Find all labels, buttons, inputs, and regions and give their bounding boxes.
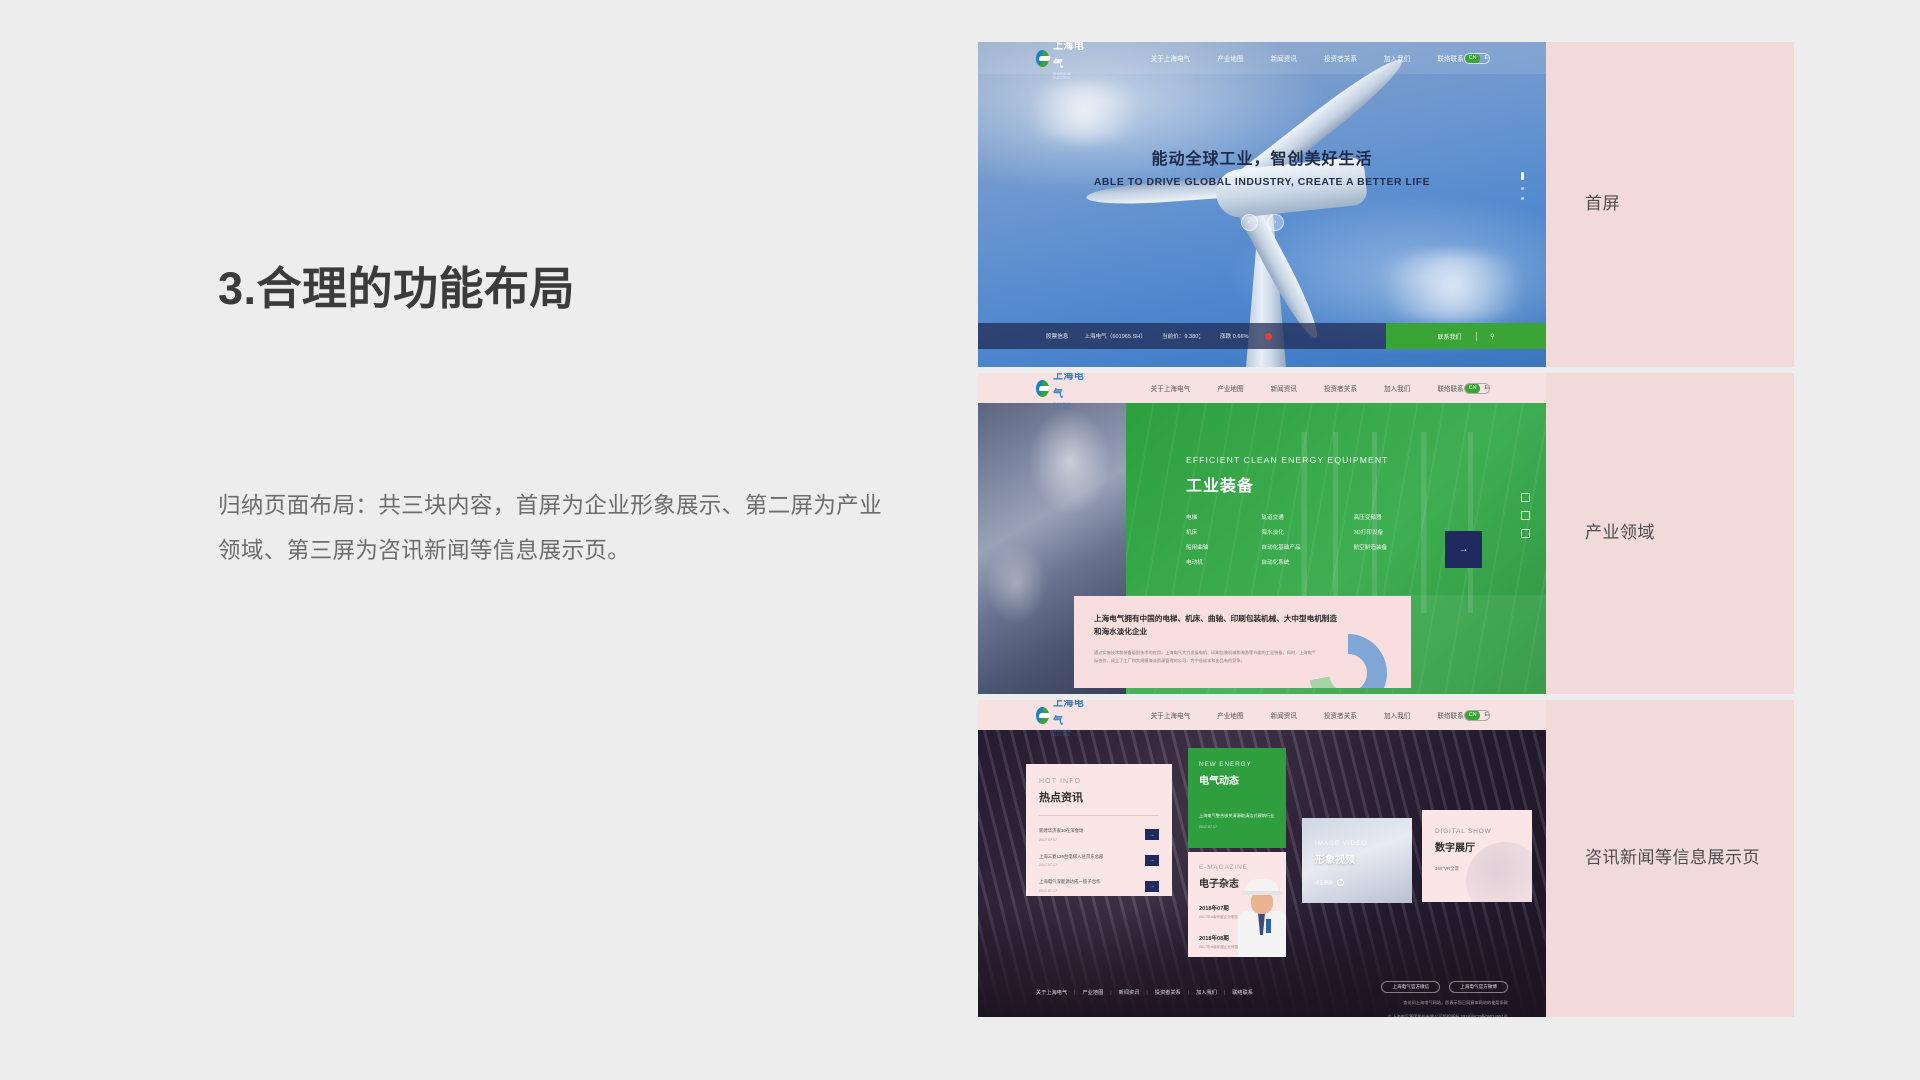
carousel-dots[interactable] xyxy=(1521,172,1524,200)
hero-headline-en: ABLE TO DRIVE GLOBAL INDUSTRY, CREATE A … xyxy=(978,177,1546,188)
carousel-next-button[interactable]: › xyxy=(1267,214,1284,231)
divider xyxy=(1039,815,1159,816)
language-toggle[interactable]: CN EN xyxy=(1464,53,1490,64)
mockup-row-news: HOT INFO 热点资讯 新建华济家10在深会场 2017.07.17 → 上… xyxy=(978,700,1794,1017)
image-video-card[interactable]: IMAGE VIDEO 形象视频 点击播放 xyxy=(1302,818,1412,903)
nav-item-investor[interactable]: 投资者关系 xyxy=(1324,383,1357,393)
new-energy-label-en: NEW ENERGY xyxy=(1199,761,1275,768)
divider: | xyxy=(1074,990,1075,996)
weibo-button[interactable]: 上海电气官方微博 xyxy=(1449,981,1508,993)
lang-cn-option[interactable]: CN xyxy=(1465,383,1481,394)
logo-subtext: SHANGHAI ELECTRIC xyxy=(1053,72,1085,80)
arrow-right-icon[interactable]: → xyxy=(1145,881,1159,892)
nav-item-news[interactable]: 新闻资讯 xyxy=(1271,53,1297,63)
footer-link-news[interactable]: 新闻资讯 xyxy=(1119,989,1140,996)
industry-link[interactable]: 航空制造装备 xyxy=(1354,543,1388,551)
stock-ticker-info: 股票信息 上海电气（601965.SH） 当前价：9.380； 涨跌 0.66% xyxy=(978,323,1386,349)
mockup-row-first-screen: 上海电气 SHANGHAI ELECTRIC 关于上海电气 产业地图 新闻资讯 … xyxy=(978,42,1794,367)
footer-nav[interactable]: 关于上海电气 | 产业地图 | 新闻资讯 | 投资者关系 | 加入我们 | 联络… xyxy=(1036,989,1253,996)
footer-link-contact[interactable]: 联络联系 xyxy=(1232,989,1253,996)
list-item[interactable]: 上海三菱126台电梯入驻京东总部 2017.07.17 → xyxy=(1039,854,1159,868)
divider: | xyxy=(1224,990,1225,996)
industry-link[interactable]: 3D打印设备 xyxy=(1354,528,1388,536)
image-video-label-en: IMAGE VIDEO xyxy=(1315,840,1412,847)
hot-item-title: 上海电气深能源达成一揽子合作 xyxy=(1039,879,1100,886)
stock-ticker-bar: 股票信息 上海电气（601965.SH） 当前价：9.380； 涨跌 0.66%… xyxy=(978,323,1546,349)
lang-en-option[interactable]: EN xyxy=(1480,385,1490,391)
industry-card-title: 上海电气拥有中国的电梯、机床、曲轴、印刷包装机械、大中型电机制造和海水淡化企业 xyxy=(1094,613,1344,638)
industry-link-columns[interactable]: 电梯 机床 船用曲轴 电动机 轨道交通 海水淡化 自动化基础产品 自动化系统 高… xyxy=(1186,513,1387,573)
new-energy-title: 上海电气整合核关清源取清洁式建筑行业 xyxy=(1199,813,1275,820)
industry-link[interactable]: 自动化基础产品 xyxy=(1261,543,1300,551)
nav-item-join-us[interactable]: 加入我们 xyxy=(1384,710,1410,720)
logo-mark-icon xyxy=(1036,380,1049,397)
label-first-screen-text: 首屏 xyxy=(1585,191,1620,217)
nav-item-investor[interactable]: 投资者关系 xyxy=(1324,710,1357,720)
hero-text-block: 能动全球工业，智创美好生活 ABLE TO DRIVE GLOBAL INDUS… xyxy=(978,145,1546,188)
nav-item-contact[interactable]: 联络联系 xyxy=(1437,53,1463,63)
industry-link[interactable]: 海水淡化 xyxy=(1261,528,1300,536)
stock-change: 涨跌 0.66% xyxy=(1220,332,1249,340)
digital-show-label-en: DIGITAL SHOW xyxy=(1435,828,1532,835)
side-control-icon[interactable] xyxy=(1521,529,1530,538)
carousel-dot-active[interactable] xyxy=(1521,172,1524,180)
industry-heading-en: EFFICIENT CLEAN ENERGY EQUIPMENT xyxy=(1186,455,1389,465)
search-icon[interactable]: ⚲ xyxy=(1490,333,1494,340)
divider xyxy=(1476,332,1477,341)
new-energy-card[interactable]: NEW ENERGY 电气动态 上海电气整合核关清源取清洁式建筑行业 2017.… xyxy=(1188,748,1286,848)
screenshot-first-screen[interactable]: 上海电气 SHANGHAI ELECTRIC 关于上海电气 产业地图 新闻资讯 … xyxy=(978,42,1546,367)
hot-item-date: 2017.07.17 xyxy=(1039,863,1103,867)
footer-link-investor[interactable]: 投资者关系 xyxy=(1155,989,1181,996)
site-logo[interactable]: 上海电气 SHANGHAI ELECTRIC xyxy=(1036,373,1085,410)
lang-en-option[interactable]: EN xyxy=(1480,55,1490,61)
pie-chart-graphic xyxy=(1309,634,1387,688)
emagazine-label-en: E-MAGAZINE xyxy=(1199,864,1275,871)
site-logo[interactable]: 上海电气 SHANGHAI ELECTRIC xyxy=(1036,700,1085,737)
stock-code: 上海电气（601965.SH） xyxy=(1084,332,1146,340)
industry-heading-cn: 工业装备 xyxy=(1186,472,1389,496)
stock-price: 当前价：9.380； xyxy=(1162,332,1204,340)
nav-item-about[interactable]: 关于上海电气 xyxy=(1151,710,1191,720)
nav-item-about[interactable]: 关于上海电气 xyxy=(1151,383,1191,393)
engineer-badge xyxy=(1266,919,1271,933)
hero-headline-cn: 能动全球工业，智创美好生活 xyxy=(978,145,1546,169)
contact-us-link[interactable]: 联系我们 xyxy=(1437,332,1461,341)
industry-link[interactable]: 船用曲轴 xyxy=(1186,543,1208,551)
nav-item-join-us[interactable]: 加入我们 xyxy=(1384,53,1410,63)
label-news: 咨讯新闻等信息展示页 xyxy=(1546,700,1794,1017)
label-first-screen: 首屏 xyxy=(1546,42,1794,367)
nav-item-join-us[interactable]: 加入我们 xyxy=(1384,383,1410,393)
footer-link-industry-map[interactable]: 产业地图 xyxy=(1083,989,1104,996)
label-industry: 产业领域 xyxy=(1546,373,1794,694)
hard-hat-icon xyxy=(1245,879,1279,895)
hot-info-card[interactable]: HOT INFO 热点资讯 新建华济家10在深会场 2017.07.17 → 上… xyxy=(1026,764,1172,896)
industry-column-1: 电梯 机床 船用曲轴 电动机 xyxy=(1186,513,1208,573)
nav-item-industry-map[interactable]: 产业地图 xyxy=(1217,53,1243,63)
list-item[interactable]: 上海电气深能源达成一揽子合作 2017.07.17 → xyxy=(1039,879,1159,893)
slide-description: 归纳页面布局：共三块内容，首屏为企业形象展示、第二屏为产业领域、第三屏为咨讯新闻… xyxy=(218,483,890,574)
cloud-shape xyxy=(1008,82,1158,142)
logo-text: 上海电气 xyxy=(1053,700,1084,727)
play-cta[interactable]: 点击播放 xyxy=(1315,879,1412,886)
cloud-shape xyxy=(1358,252,1546,322)
divider: | xyxy=(1110,990,1111,996)
site-header: 上海电气 SHANGHAI ELECTRIC 关于上海电气 产业地图 新闻资讯 … xyxy=(978,373,1546,403)
wechat-button[interactable]: 上海电气官方微信 xyxy=(1381,981,1440,993)
divider: | xyxy=(1146,990,1147,996)
nav-item-contact[interactable]: 联络联系 xyxy=(1437,383,1463,393)
footer-legal-terms: 查访问上海电气网站，即表示您已同意本网站的使用条款 xyxy=(1381,999,1508,1007)
site-header: 上海电气 SHANGHAI ELECTRIC 关于上海电气 产业地图 新闻资讯 … xyxy=(978,700,1546,730)
nav-item-contact[interactable]: 联络联系 xyxy=(1437,710,1463,720)
nav-item-news[interactable]: 新闻资讯 xyxy=(1271,383,1297,393)
nav-item-about[interactable]: 关于上海电气 xyxy=(1151,53,1191,63)
industry-link[interactable]: 电梯 xyxy=(1186,513,1208,521)
lang-cn-option[interactable]: CN xyxy=(1465,710,1481,721)
arrow-right-icon[interactable]: → xyxy=(1145,855,1159,866)
new-energy-label-cn: 电气动态 xyxy=(1199,772,1275,787)
engineer-photo xyxy=(1234,879,1286,957)
label-news-text: 咨讯新闻等信息展示页 xyxy=(1585,845,1760,871)
footer-legal-copyright: © 上海电气集团股份有限公司版权所有 2018沪ICP备05034551号 xyxy=(1381,1013,1508,1017)
hot-info-label-cn: 热点资讯 xyxy=(1039,789,1159,805)
image-video-label-cn: 形象视频 xyxy=(1315,851,1412,866)
footer-link-about[interactable]: 关于上海电气 xyxy=(1036,989,1067,996)
nav-item-investor[interactable]: 投资者关系 xyxy=(1324,53,1357,63)
logo-mark-icon xyxy=(1036,707,1049,724)
logo-mark-icon xyxy=(1036,50,1049,67)
language-toggle[interactable]: CN EN xyxy=(1464,710,1490,721)
carousel-dot[interactable] xyxy=(1521,197,1524,200)
nav-item-industry-map[interactable]: 产业地图 xyxy=(1217,710,1243,720)
logo-subtext: SHANGHAI ELECTRIC xyxy=(1053,729,1085,737)
mockup-row-industry: EFFICIENT CLEAN ENERGY EQUIPMENT 工业装备 电梯… xyxy=(978,373,1794,694)
carousel-dot[interactable] xyxy=(1521,187,1524,190)
language-toggle[interactable]: CN EN xyxy=(1464,383,1490,394)
industry-link[interactable]: 自动化系统 xyxy=(1261,558,1300,566)
site-footer: 关于上海电气 | 产业地图 | 新闻资讯 | 投资者关系 | 加入我们 | 联络… xyxy=(978,975,1546,1017)
lang-cn-option[interactable]: CN xyxy=(1465,53,1481,64)
industry-column-2: 轨道交通 海水淡化 自动化基础产品 自动化系统 xyxy=(1261,513,1300,573)
play-cta-text: 点击播放 xyxy=(1315,880,1333,886)
label-industry-text: 产业领域 xyxy=(1585,520,1655,546)
industry-side-controls[interactable] xyxy=(1521,493,1530,538)
footer-social-buttons[interactable]: 上海电气官方微信 上海电气官方微博 xyxy=(1381,981,1508,993)
carousel-arrows[interactable]: ‹ › xyxy=(978,214,1546,231)
side-control-icon[interactable] xyxy=(1521,493,1530,502)
nav-item-news[interactable]: 新闻资讯 xyxy=(1271,710,1297,720)
main-nav[interactable]: 关于上海电气 产业地图 新闻资讯 投资者关系 加入我们 联络联系 xyxy=(1151,710,1464,720)
logo-subtext: SHANGHAI ELECTRIC xyxy=(1053,402,1085,410)
divider: | xyxy=(1188,990,1189,996)
stock-status-dot-icon xyxy=(1265,333,1272,340)
mockup-stack: 上海电气 SHANGHAI ELECTRIC 关于上海电气 产业地图 新闻资讯 … xyxy=(978,42,1794,1017)
industry-link[interactable]: 高压变频器 xyxy=(1354,513,1388,521)
contact-search-group[interactable]: 联系我们 ⚲ xyxy=(1386,323,1546,349)
hot-item-date: 2017.07.17 xyxy=(1039,889,1100,893)
industry-heading: EFFICIENT CLEAN ENERGY EQUIPMENT 工业装备 xyxy=(1186,455,1389,496)
main-nav[interactable]: 关于上海电气 产业地图 新闻资讯 投资者关系 加入我们 联络联系 xyxy=(1151,383,1464,393)
stock-label: 股票信息 xyxy=(1046,332,1068,340)
industry-card-body: 通过实施技术和装备级别技术的应用，上海电气大力发展电机、印刷包装机械和海渔等节能… xyxy=(1094,649,1330,665)
nav-item-industry-map[interactable]: 产业地图 xyxy=(1217,383,1243,393)
logo-text: 上海电气 xyxy=(1053,42,1084,70)
logo-text: 上海电气 xyxy=(1053,373,1084,400)
side-control-icon[interactable] xyxy=(1521,511,1530,520)
screenshot-news-section[interactable]: HOT INFO 热点资讯 新建华济家10在深会场 2017.07.17 → 上… xyxy=(978,700,1546,1017)
screenshot-industry-section[interactable]: EFFICIENT CLEAN ENERGY EQUIPMENT 工业装备 电梯… xyxy=(978,373,1546,694)
industry-column-3: 高压变频器 3D打印设备 航空制造装备 xyxy=(1354,513,1388,573)
carousel-prev-button[interactable]: ‹ xyxy=(1241,214,1258,231)
hot-item-title: 新建华济家10在深会场 xyxy=(1039,828,1083,835)
slide-text-column: 3.合理的功能布局 归纳页面布局：共三块内容，首屏为企业形象展示、第二屏为产业领… xyxy=(218,262,898,574)
footer-right-block: 上海电气官方微信 上海电气官方微博 查访问上海电气网站，即表示您已同意本网站的使… xyxy=(1381,981,1508,1017)
play-icon[interactable] xyxy=(1337,879,1344,886)
hot-info-label-en: HOT INFO xyxy=(1039,778,1159,785)
arrow-right-icon: → xyxy=(1459,544,1469,555)
list-item[interactable]: 新建华济家10在深会场 2017.07.17 → xyxy=(1039,828,1159,842)
lang-en-option[interactable]: EN xyxy=(1480,712,1490,718)
page-title: 3.合理的功能布局 xyxy=(218,262,898,316)
industry-info-card: 上海电气拥有中国的电梯、机床、曲轴、印刷包装机械、大中型电机制造和海水淡化企业 … xyxy=(1074,596,1411,688)
arrow-right-icon[interactable]: → xyxy=(1145,829,1159,840)
industry-link[interactable]: 机床 xyxy=(1186,528,1208,536)
footer-link-join-us[interactable]: 加入我们 xyxy=(1196,989,1217,996)
emagazine-card[interactable]: E-MAGAZINE 电子杂志 2018年07期 2017年A版年度企业服务 2… xyxy=(1188,852,1286,957)
digital-show-card[interactable]: DIGITAL SHOW 数字展厅 360°VR全景 xyxy=(1422,810,1532,902)
industry-link[interactable]: 轨道交通 xyxy=(1261,513,1300,521)
hot-item-date: 2017.07.17 xyxy=(1039,838,1083,842)
industry-link[interactable]: 电动机 xyxy=(1186,558,1208,566)
new-energy-date: 2017.07.17 xyxy=(1199,825,1275,829)
main-nav[interactable]: 关于上海电气 产业地图 新闻资讯 投资者关系 加入我们 联络联系 xyxy=(1151,53,1464,63)
site-logo[interactable]: 上海电气 SHANGHAI ELECTRIC xyxy=(1036,42,1085,80)
industry-more-button[interactable]: → xyxy=(1445,531,1482,568)
hot-item-title: 上海三菱126台电梯入驻京东总部 xyxy=(1039,854,1103,861)
site-header: 上海电气 SHANGHAI ELECTRIC 关于上海电气 产业地图 新闻资讯 … xyxy=(978,42,1546,74)
